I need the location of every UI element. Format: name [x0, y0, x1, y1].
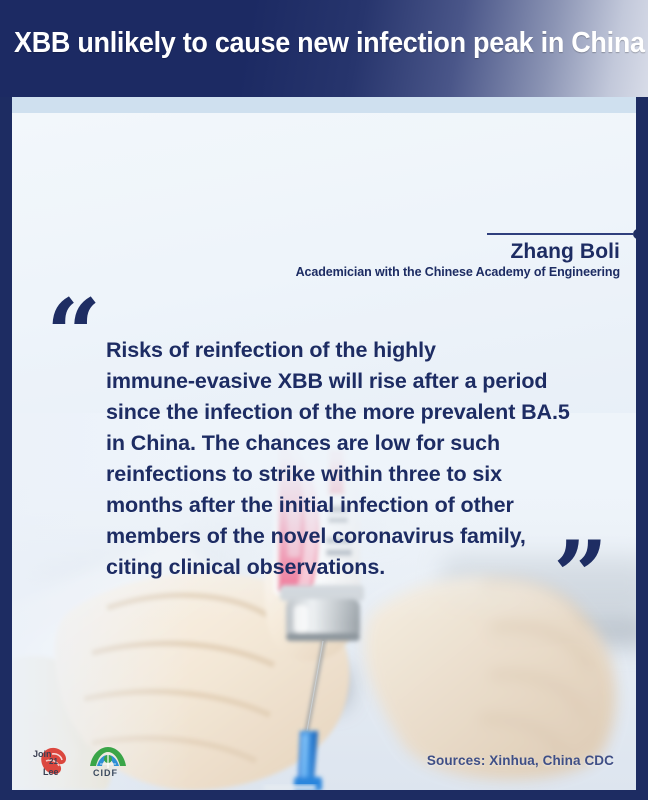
- svg-text:Lee: Lee: [43, 767, 59, 777]
- quote-line: since the infection of the more prevalen…: [106, 400, 570, 424]
- quote-card: Zhang Boli Academician with the Chinese …: [12, 113, 636, 790]
- frame-left-edge: [0, 97, 12, 800]
- frame-right-edge: [636, 97, 648, 800]
- frame-bottom-edge: [0, 790, 648, 800]
- quote-line: Risks of reinfection of the highly: [106, 338, 436, 362]
- infographic-poster: XBB unlikely to cause new infection peak…: [0, 0, 648, 800]
- page-title: XBB unlikely to cause new infection peak…: [14, 27, 600, 60]
- cidf-logo-icon: CIDF: [86, 744, 130, 778]
- speaker-name: Zhang Boli: [511, 240, 621, 264]
- speaker-role: Academician with the Chinese Academy of …: [296, 265, 620, 279]
- header-band: XBB unlikely to cause new infection peak…: [0, 0, 648, 97]
- quote-line: citing clinical observations.: [106, 555, 385, 579]
- joint-21-lee-logo-icon: Join 21 Lee: [32, 744, 78, 778]
- attribution-rule: [487, 233, 633, 235]
- logo-group: Join 21 Lee CIDF: [32, 744, 130, 778]
- svg-text:21: 21: [49, 757, 58, 766]
- quote-text: Risks of reinfection of the highly immun…: [106, 335, 616, 583]
- quote-line: in China. The chances are low for such: [106, 431, 500, 455]
- sources-label: Sources: Xinhua, China CDC: [427, 753, 614, 768]
- quote-line: immune-evasive XBB will rise after a per…: [106, 369, 547, 393]
- svg-text:CIDF: CIDF: [93, 768, 118, 778]
- quote-line: reinfections to strike within three to s…: [106, 462, 502, 486]
- quote-open-mark: “: [46, 287, 99, 383]
- quote-line: months after the initial infection of ot…: [106, 493, 514, 517]
- quote-line: members of the novel coronavirus family,: [106, 524, 526, 548]
